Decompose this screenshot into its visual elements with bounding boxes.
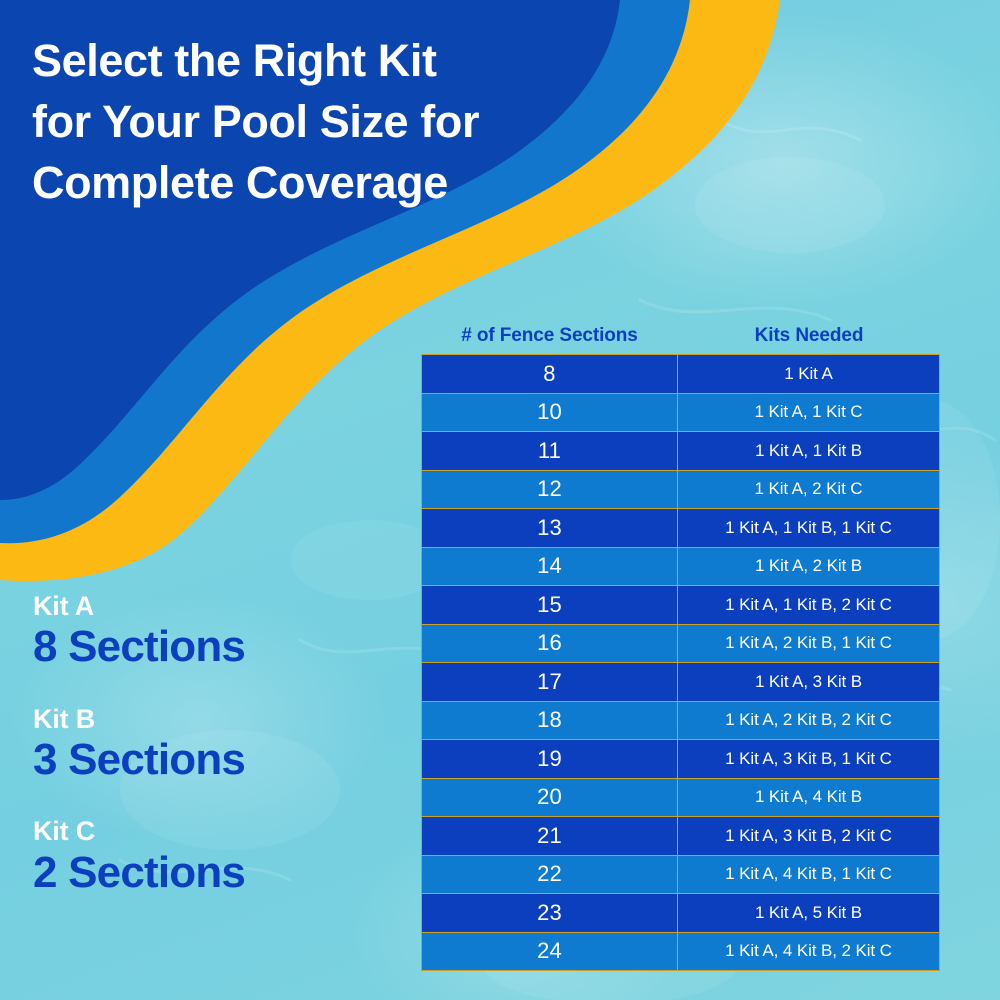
cell-fence-sections: 17 <box>422 663 678 701</box>
cell-fence-sections: 13 <box>422 509 678 547</box>
table-row: 81 Kit A <box>422 355 939 394</box>
cell-kits-needed: 1 Kit A, 5 Kit B <box>678 894 939 932</box>
kit-b-sections: 3 Sections <box>33 735 245 784</box>
kit-b-name: Kit B <box>33 705 245 733</box>
table-row: 231 Kit A, 5 Kit B <box>422 894 939 933</box>
cell-fence-sections: 20 <box>422 779 678 817</box>
cell-kits-needed: 1 Kit A, 1 Kit C <box>678 394 939 432</box>
cell-kits-needed: 1 Kit A, 1 Kit B <box>678 432 939 470</box>
kit-c-name: Kit C <box>33 817 245 845</box>
table-row: 141 Kit A, 2 Kit B <box>422 548 939 587</box>
table-row: 191 Kit A, 3 Kit B, 1 Kit C <box>422 740 939 779</box>
cell-fence-sections: 10 <box>422 394 678 432</box>
kit-c-sections: 2 Sections <box>33 848 245 897</box>
table-row: 121 Kit A, 2 Kit C <box>422 471 939 510</box>
cell-kits-needed: 1 Kit A, 2 Kit C <box>678 471 939 509</box>
cell-fence-sections: 23 <box>422 894 678 932</box>
kit-legend-item-b: Kit B 3 Sections <box>33 705 245 785</box>
cell-kits-needed: 1 Kit A, 2 Kit B, 2 Kit C <box>678 702 939 740</box>
cell-kits-needed: 1 Kit A, 1 Kit B, 2 Kit C <box>678 586 939 624</box>
table-row: 171 Kit A, 3 Kit B <box>422 663 939 702</box>
table-row: 131 Kit A, 1 Kit B, 1 Kit C <box>422 509 939 548</box>
cell-fence-sections: 15 <box>422 586 678 624</box>
cell-fence-sections: 16 <box>422 625 678 663</box>
kit-requirement-table: # of Fence Sections Kits Needed 81 Kit A… <box>421 325 940 971</box>
table-header-kits: Kits Needed <box>678 325 940 347</box>
table-row: 151 Kit A, 1 Kit B, 2 Kit C <box>422 586 939 625</box>
cell-fence-sections: 21 <box>422 817 678 855</box>
pool-fence-kit-infographic: Select the Right Kit for Your Pool Size … <box>0 0 1000 1000</box>
table-header-sections: # of Fence Sections <box>421 325 678 347</box>
cell-fence-sections: 18 <box>422 702 678 740</box>
table-row: 211 Kit A, 3 Kit B, 2 Kit C <box>422 817 939 856</box>
cell-kits-needed: 1 Kit A, 4 Kit B, 2 Kit C <box>678 933 939 971</box>
cell-fence-sections: 12 <box>422 471 678 509</box>
headline-line-1: Select the Right Kit <box>32 30 592 91</box>
table-row: 111 Kit A, 1 Kit B <box>422 432 939 471</box>
headline-line-2: for Your Pool Size for <box>32 91 592 152</box>
table-row: 181 Kit A, 2 Kit B, 2 Kit C <box>422 702 939 741</box>
kit-legend: Kit A 8 Sections Kit B 3 Sections Kit C … <box>33 592 245 897</box>
table-header-row: # of Fence Sections Kits Needed <box>421 325 940 354</box>
cell-kits-needed: 1 Kit A, 3 Kit B, 1 Kit C <box>678 740 939 778</box>
table-row: 201 Kit A, 4 Kit B <box>422 779 939 818</box>
cell-fence-sections: 14 <box>422 548 678 586</box>
kit-a-name: Kit A <box>33 592 245 620</box>
table-row: 101 Kit A, 1 Kit C <box>422 394 939 433</box>
table-row: 221 Kit A, 4 Kit B, 1 Kit C <box>422 856 939 895</box>
page-title: Select the Right Kit for Your Pool Size … <box>32 30 592 214</box>
kit-a-sections: 8 Sections <box>33 622 245 671</box>
table-row: 161 Kit A, 2 Kit B, 1 Kit C <box>422 625 939 664</box>
cell-kits-needed: 1 Kit A, 2 Kit B, 1 Kit C <box>678 625 939 663</box>
kit-legend-item-c: Kit C 2 Sections <box>33 817 245 897</box>
cell-kits-needed: 1 Kit A <box>678 355 939 393</box>
cell-kits-needed: 1 Kit A, 1 Kit B, 1 Kit C <box>678 509 939 547</box>
cell-kits-needed: 1 Kit A, 4 Kit B, 1 Kit C <box>678 856 939 894</box>
cell-fence-sections: 24 <box>422 933 678 971</box>
cell-kits-needed: 1 Kit A, 3 Kit B, 2 Kit C <box>678 817 939 855</box>
cell-fence-sections: 22 <box>422 856 678 894</box>
cell-kits-needed: 1 Kit A, 3 Kit B <box>678 663 939 701</box>
table-row: 241 Kit A, 4 Kit B, 2 Kit C <box>422 933 939 972</box>
cell-fence-sections: 8 <box>422 355 678 393</box>
cell-kits-needed: 1 Kit A, 4 Kit B <box>678 779 939 817</box>
kit-legend-item-a: Kit A 8 Sections <box>33 592 245 672</box>
headline-line-3: Complete Coverage <box>32 152 592 213</box>
cell-fence-sections: 19 <box>422 740 678 778</box>
table-body: 81 Kit A101 Kit A, 1 Kit C111 Kit A, 1 K… <box>421 354 940 971</box>
cell-fence-sections: 11 <box>422 432 678 470</box>
cell-kits-needed: 1 Kit A, 2 Kit B <box>678 548 939 586</box>
